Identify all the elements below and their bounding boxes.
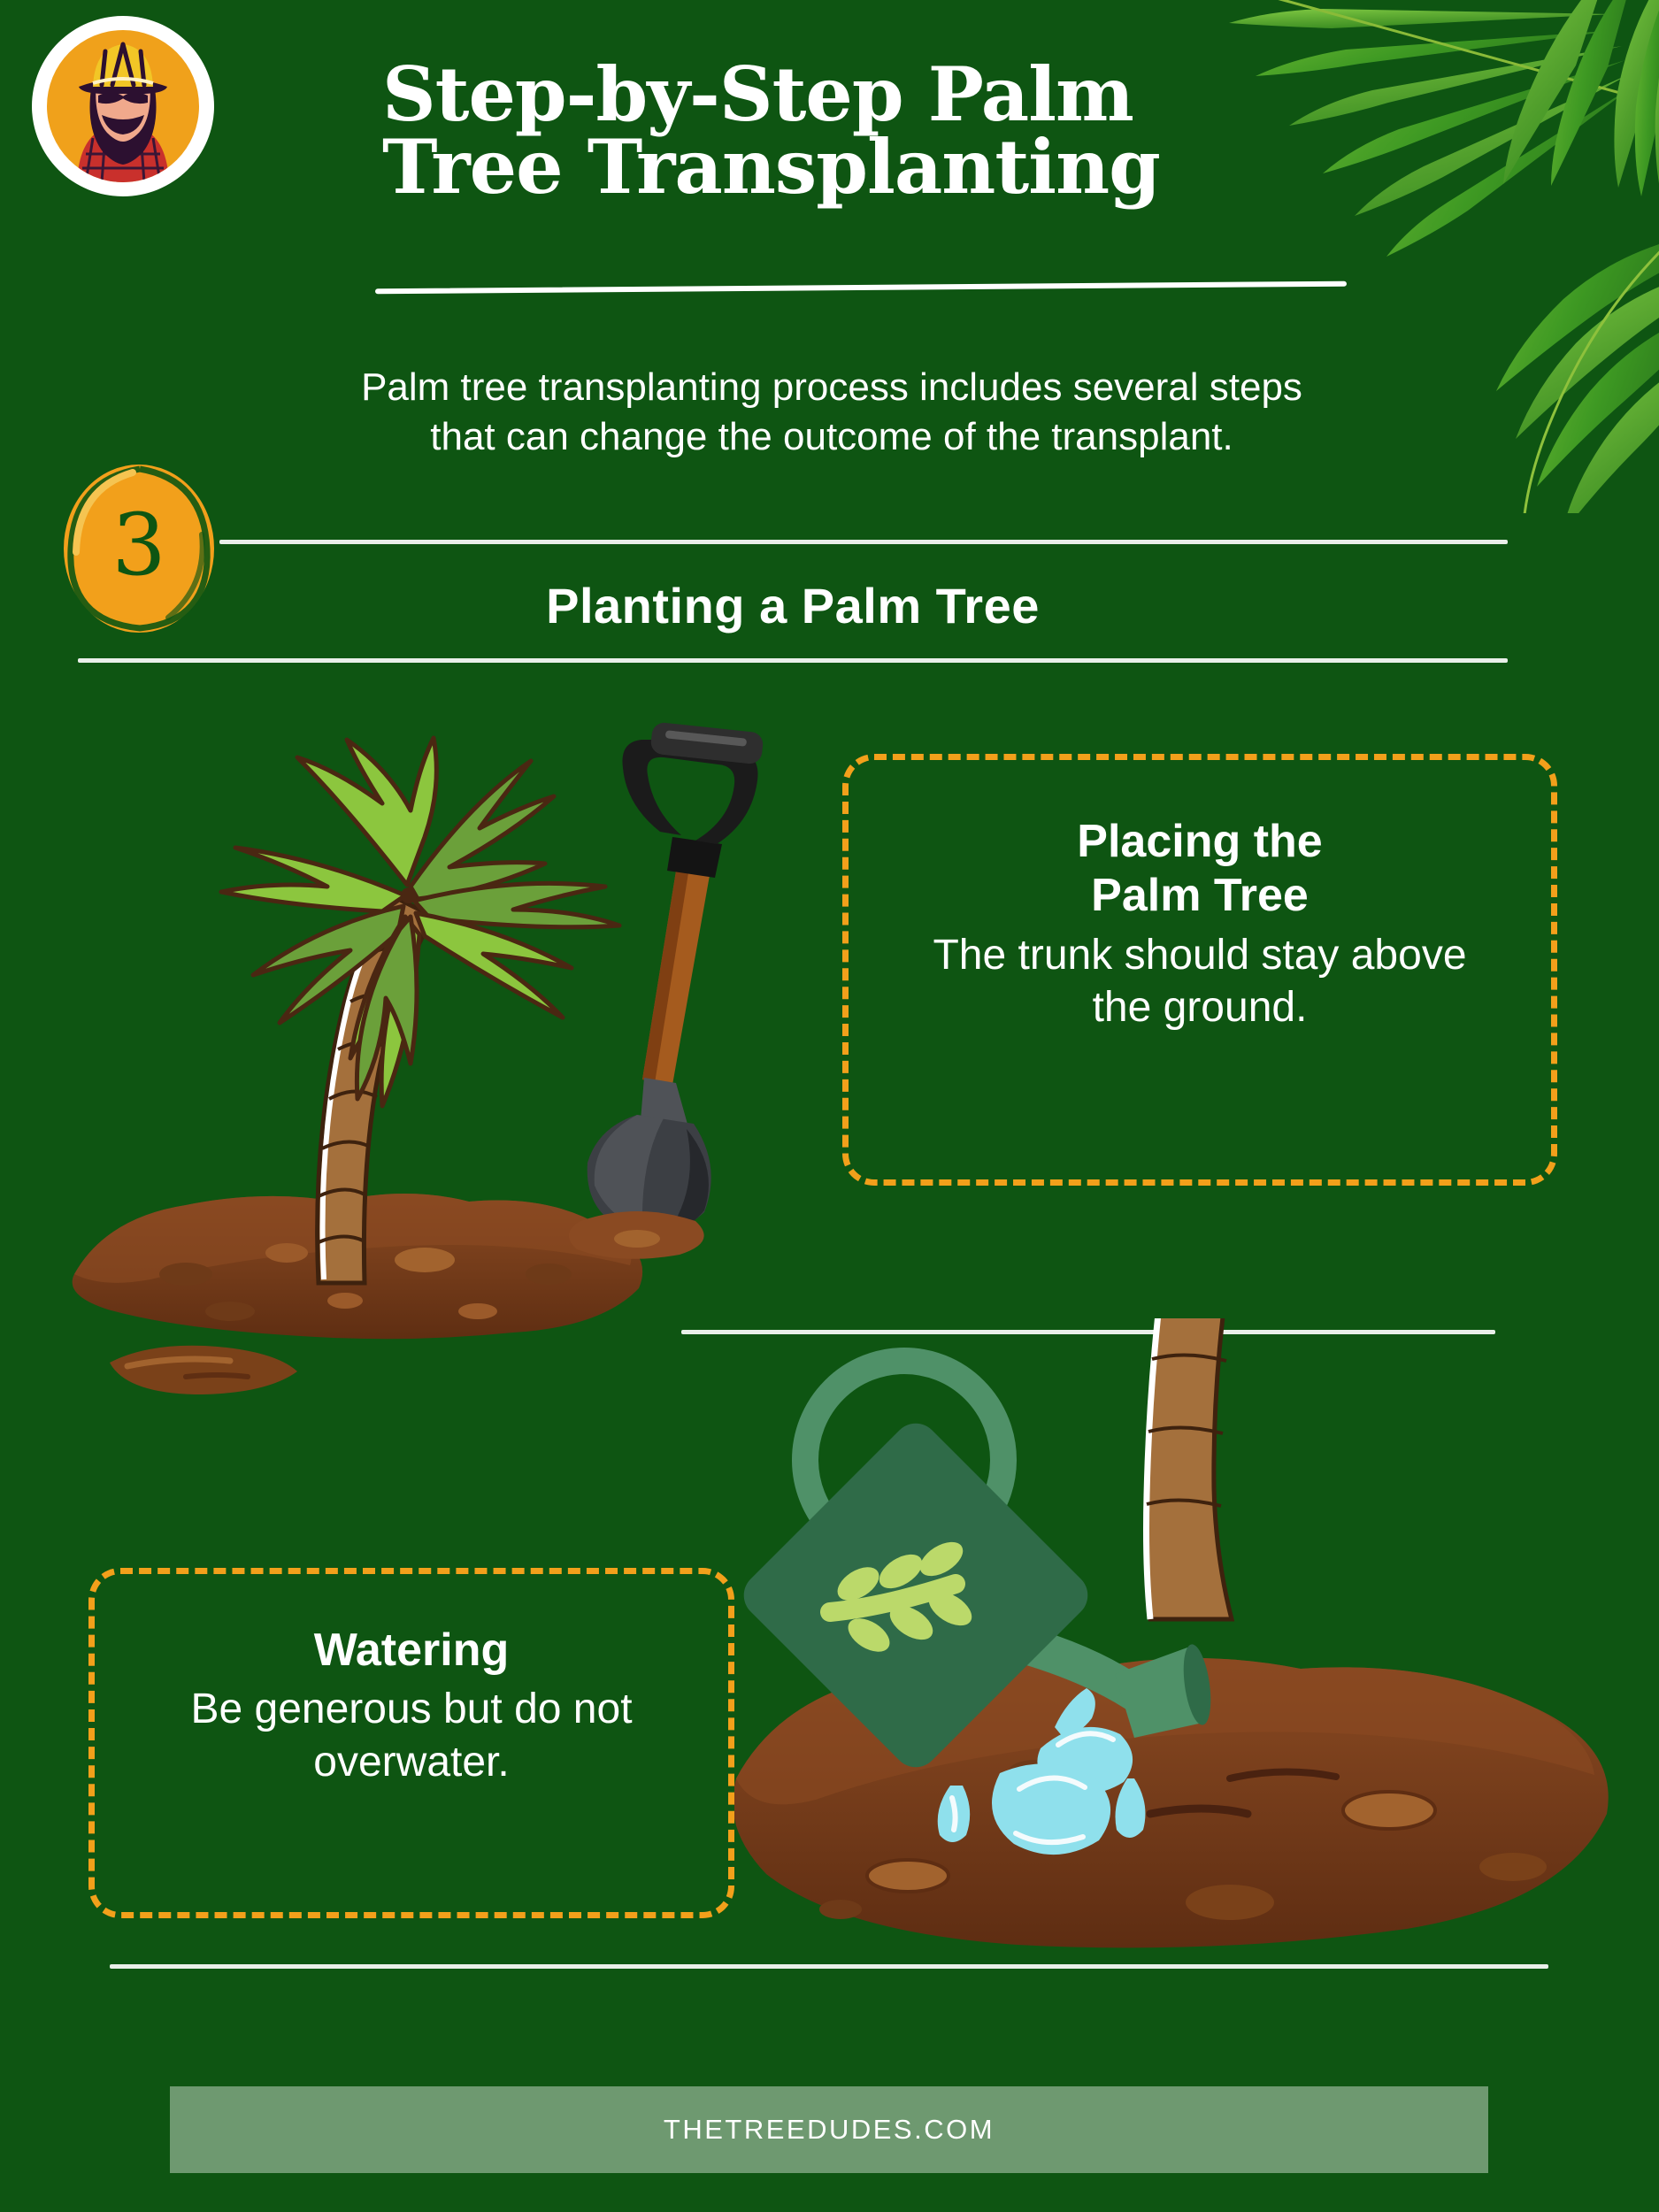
page-title: Step-by-Step Palm Tree Transplanting	[382, 58, 1391, 204]
lumberjack-icon	[47, 30, 199, 182]
divider-bottom	[110, 1964, 1548, 1969]
infographic-page: Step-by-Step Palm Tree Transplanting Pal…	[0, 0, 1659, 2212]
brand-logo	[32, 16, 214, 196]
palm-tree-with-shovel-illustration	[53, 655, 779, 1451]
card-body: The trunk should stay above the ground.	[880, 929, 1519, 1034]
footer-bar: THETREEDUDES.COM	[170, 2086, 1488, 2173]
divider-under-section-title	[78, 658, 1508, 663]
card-title: Watering	[127, 1624, 696, 1678]
card-body: Be generous but do not overwater.	[127, 1683, 696, 1788]
divider-middle	[681, 1330, 1495, 1334]
leaf-motif-icon	[830, 1535, 978, 1659]
divider-top	[219, 540, 1508, 544]
shovel-icon	[53, 655, 764, 1451]
section-title: Planting a Palm Tree	[78, 577, 1508, 634]
card-title: Placing the Palm Tree	[880, 815, 1519, 924]
footer-website[interactable]: THETREEDUDES.COM	[664, 2114, 995, 2146]
card-placing-the-palm-tree: Placing the Palm Tree The trunk should s…	[842, 754, 1557, 1186]
water-droplets-icon	[938, 1688, 1146, 1855]
card-watering: Watering Be generous but do not overwate…	[88, 1568, 734, 1918]
watering-can-icon	[734, 1361, 1215, 1777]
title-underline	[375, 281, 1347, 295]
page-subtitle: Palm tree transplanting process includes…	[159, 363, 1504, 463]
watering-palm-tree-illustration	[734, 1318, 1646, 1991]
logo-avatar	[47, 30, 199, 182]
title-block: Step-by-Step Palm Tree Transplanting	[382, 58, 1391, 204]
